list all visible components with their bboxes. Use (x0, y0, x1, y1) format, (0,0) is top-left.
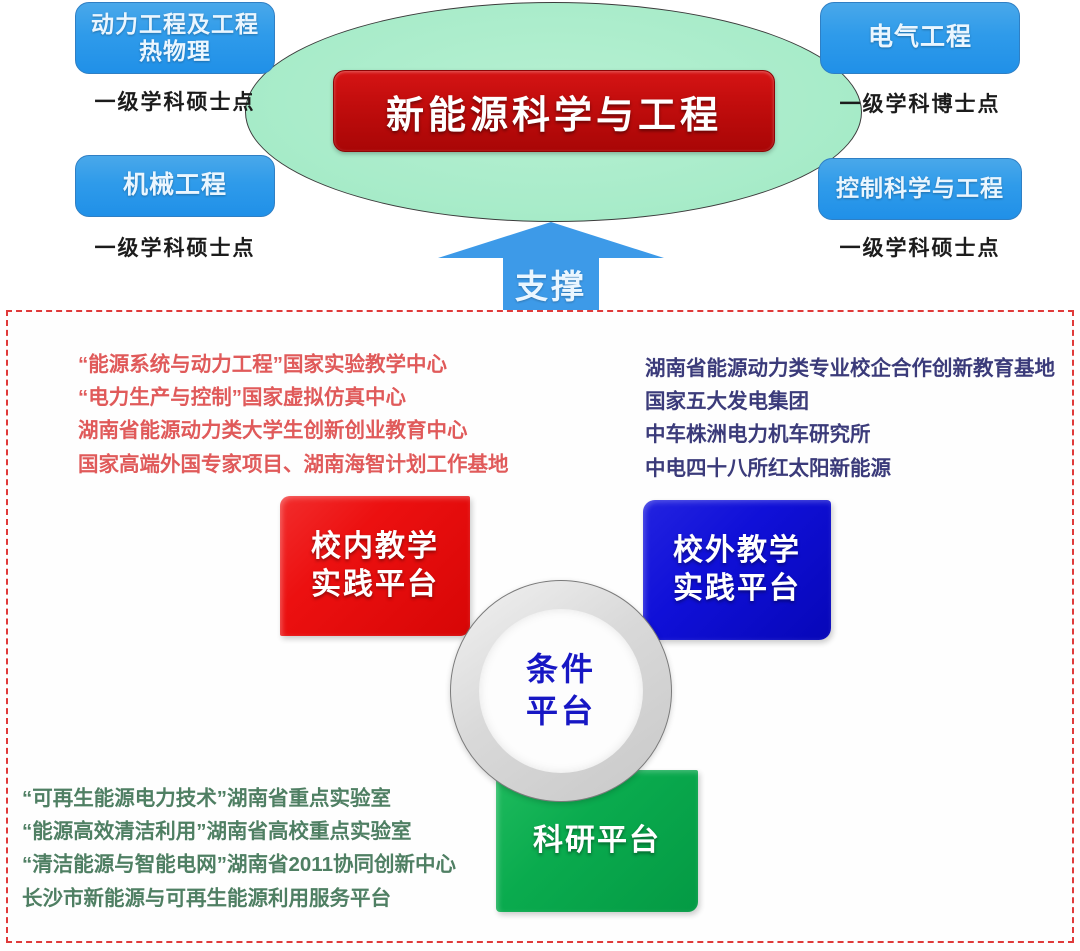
discipline-box-power-engineering[interactable]: 动力工程及工程 热物理 (75, 2, 275, 74)
list-item: 国家高端外国专家项目、湖南海智计划工作基地 (78, 448, 509, 481)
platform-label-line1: 科研平台 (533, 822, 661, 860)
list-item: 湖南省能源动力类专业校企合作创新教育基地 (645, 352, 1055, 385)
internal-platform-list: “能源系统与动力工程”国家实验教学中心 “电力生产与控制”国家虚拟仿真中心 湖南… (78, 348, 509, 481)
research-platform-list: “可再生能源电力技术”湖南省重点实验室 “能源高效清洁利用”湖南省高校重点实验室… (22, 782, 456, 915)
discipline-label-line1: 控制科学与工程 (836, 175, 1004, 202)
platform-label-line2: 实践平台 (311, 566, 439, 604)
external-platform-list: 湖南省能源动力类专业校企合作创新教育基地 国家五大发电集团 中车株洲电力机车研究… (645, 352, 1055, 485)
hub-label-line2: 平台 (526, 693, 596, 729)
support-arrow: 支撑 (438, 222, 664, 314)
platform-label-line2: 实践平台 (673, 570, 801, 608)
platform-label-line1: 校内教学 (311, 528, 439, 566)
list-item: “电力生产与控制”国家虚拟仿真中心 (78, 381, 509, 414)
list-item: “能源系统与动力工程”国家实验教学中心 (78, 348, 509, 381)
program-title-banner: 新能源科学与工程 (333, 70, 775, 152)
discipline-caption-electrical-engineering: 一级学科博士点 (820, 88, 1020, 118)
discipline-label-line1: 机械工程 (123, 171, 227, 201)
discipline-label-line2: 热物理 (91, 38, 259, 65)
list-item: “清洁能源与智能电网”湖南省2011协同创新中心 (22, 848, 456, 881)
list-item: 中车株洲电力机车研究所 (645, 418, 1055, 451)
discipline-label-line1: 动力工程及工程 (91, 11, 259, 38)
platform-box-external-teaching[interactable]: 校外教学 实践平台 (643, 500, 831, 640)
discipline-box-electrical-engineering[interactable]: 电气工程 (820, 2, 1020, 74)
discipline-caption-mechanical-engineering: 一级学科硕士点 (75, 232, 275, 262)
list-item: 国家五大发电集团 (645, 385, 1055, 418)
list-item: 长沙市新能源与可再生能源利用服务平台 (22, 882, 456, 915)
list-item: 湖南省能源动力类大学生创新创业教育中心 (78, 414, 509, 447)
discipline-box-control-science[interactable]: 控制科学与工程 (818, 158, 1022, 220)
platform-label-line1: 校外教学 (673, 532, 801, 570)
hub-label: 条件平台 (526, 649, 596, 732)
platform-box-internal-teaching[interactable]: 校内教学 实践平台 (280, 496, 470, 636)
list-item: “能源高效清洁利用”湖南省高校重点实验室 (22, 815, 456, 848)
condition-platform-hub[interactable]: 条件平台 (450, 580, 672, 802)
hub-label-line1: 条件 (526, 651, 596, 687)
hub-inner-disc: 条件平台 (479, 609, 643, 773)
diagram-canvas: 新能源科学与工程 动力工程及工程 热物理 一级学科硕士点 电气工程 一级学科博士… (0, 0, 1080, 951)
discipline-box-mechanical-engineering[interactable]: 机械工程 (75, 155, 275, 217)
discipline-caption-control-science: 一级学科硕士点 (818, 232, 1022, 262)
arrow-head-icon (438, 222, 664, 258)
discipline-label-line1: 电气工程 (868, 23, 972, 53)
list-item: “可再生能源电力技术”湖南省重点实验室 (22, 782, 456, 815)
program-title: 新能源科学与工程 (386, 84, 722, 139)
support-arrow-label: 支撑 (438, 260, 664, 308)
list-item: 中电四十八所红太阳新能源 (645, 452, 1055, 485)
discipline-caption-power-engineering: 一级学科硕士点 (75, 86, 275, 116)
